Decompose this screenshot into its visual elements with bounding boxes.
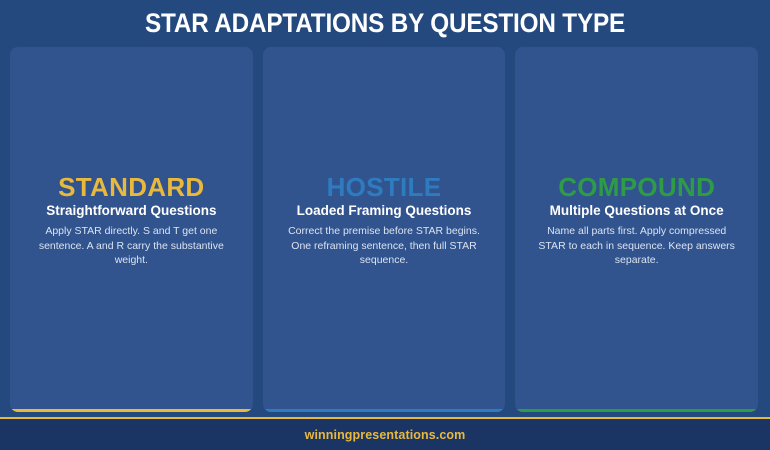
card-standard-accent-bar [10,409,253,412]
card-hostile-subtitle: Loaded Framing Questions [273,202,496,220]
card-compound-accent-bar [515,409,758,412]
card-hostile[interactable]: HOSTILE Loaded Framing Questions Correct… [263,47,506,412]
card-hostile-accent-bar [263,409,506,412]
card-compound-heading: COMPOUND [525,173,748,201]
card-hostile-heading: HOSTILE [273,173,496,201]
footer-bar: winningpresentations.com [0,419,770,450]
card-standard-subtitle: Straightforward Questions [20,202,243,220]
card-standard-body: Apply STAR directly. S and T get one sen… [20,224,243,268]
card-compound-subtitle: Multiple Questions at Once [525,202,748,220]
card-compound-content: COMPOUND Multiple Questions at Once Name… [525,173,748,268]
footer-website-label: winningpresentations.com [305,428,466,442]
card-standard-content: STANDARD Straightforward Questions Apply… [20,173,243,268]
card-row: STANDARD Straightforward Questions Apply… [10,47,758,412]
card-hostile-body: Correct the premise before STAR begins. … [273,224,496,268]
card-standard[interactable]: STANDARD Straightforward Questions Apply… [10,47,253,412]
page-title: STAR ADAPTATIONS BY QUESTION TYPE [39,8,732,38]
card-compound[interactable]: COMPOUND Multiple Questions at Once Name… [515,47,758,412]
card-hostile-content: HOSTILE Loaded Framing Questions Correct… [273,173,496,268]
card-compound-body: Name all parts first. Apply compressed S… [525,224,748,268]
card-standard-heading: STANDARD [20,173,243,201]
